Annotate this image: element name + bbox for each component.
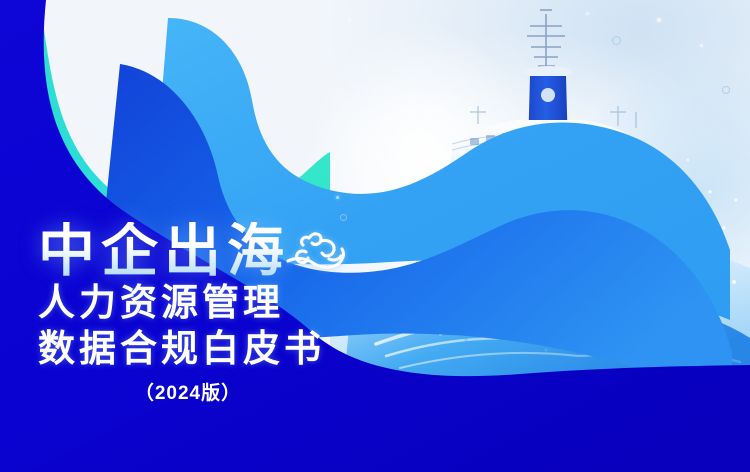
title-block: 中企出海 人力资源管理 数据合规白皮书 （2024版） xyxy=(38,222,352,405)
main-title-row: 中企出海 xyxy=(38,222,352,280)
whitepaper-cover-poster: 中企出海 人力资源管理 数据合规白皮书 （2024版） xyxy=(0,0,750,472)
subtitle-line-2: 数据合规白皮书 xyxy=(38,326,352,372)
main-title: 中企出海 xyxy=(38,222,290,280)
edition-label: （2024版） xyxy=(38,378,338,405)
chinese-cloud-wave-ornament xyxy=(286,228,348,274)
subtitle-line-1: 人力资源管理 xyxy=(38,280,352,326)
